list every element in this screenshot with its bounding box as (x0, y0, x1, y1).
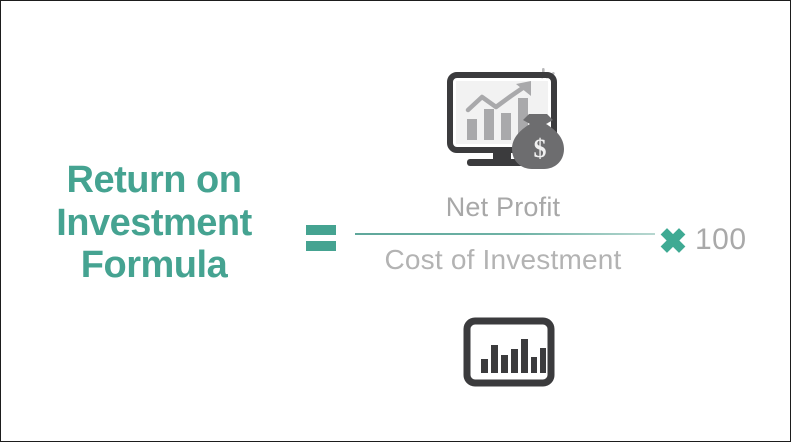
monitor-growth-chart-money-bag-icon: $ (441, 65, 581, 173)
multiply-icon (660, 227, 686, 253)
dollar-sign-icon: $ (534, 134, 547, 163)
infographic-canvas: Return on Investment Formula Net Profit … (0, 0, 791, 442)
page-title: Return on Investment Formula (19, 159, 289, 287)
chart-bars (481, 339, 546, 373)
fraction-divider-line (355, 233, 655, 235)
equals-bar-top (306, 225, 336, 235)
fraction-numerator: Net Profit (349, 189, 657, 225)
multiplier-value: 100 (695, 223, 747, 257)
monitor-neck (493, 150, 511, 160)
title-line-2: Investment (19, 202, 289, 245)
monitor-icon-svg: $ (441, 65, 581, 173)
framed-bar-chart-icon (463, 317, 555, 387)
title-line-1: Return on (19, 159, 289, 202)
equals-bar-bottom (306, 241, 336, 251)
equals-sign-icon (306, 225, 336, 255)
title-line-3: Formula (19, 244, 289, 287)
formula-fraction: Net Profit Cost of Investment (349, 189, 657, 279)
bar-chart-icon-svg (463, 317, 555, 387)
fraction-denominator: Cost of Investment (349, 241, 657, 279)
chart-frame (467, 321, 551, 383)
